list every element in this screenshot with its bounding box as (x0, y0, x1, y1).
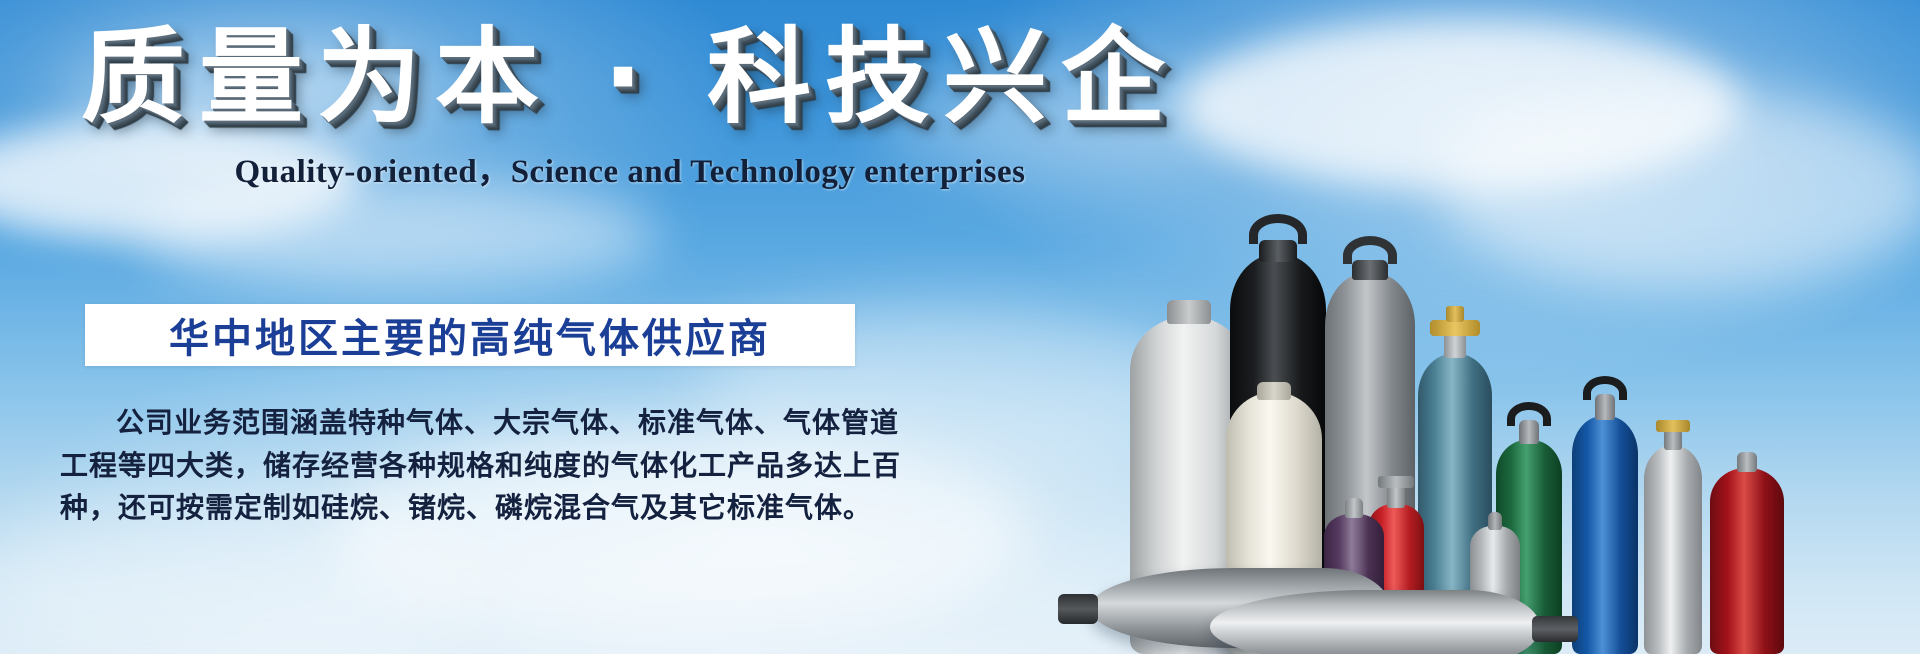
dark-red-cylinder (1710, 444, 1784, 654)
cylinder-handle-icon (1583, 376, 1627, 400)
lying-silver-cylinder-valve (1532, 616, 1578, 642)
aluminium-cylinder (1644, 404, 1702, 654)
lying-grey-cylinder-valve (1058, 594, 1098, 624)
valve-knob-icon (1656, 420, 1690, 432)
paragraph-line: 公司业务范围涵盖特种气体、大宗气体、标准气体、气体管道 (60, 403, 880, 446)
paragraph-line: 种，还可按需定制如硅烷、锗烷、磷烷混合气及其它标准气体。 (60, 488, 880, 531)
highlight-box-label: 华中地区主要的高纯气体供应商 (169, 306, 771, 364)
paragraph-line: 工程等四大类，储存经营各种规格和纯度的气体化工产品多达上百 (60, 446, 880, 489)
cylinder-handle-icon (1507, 402, 1551, 426)
cylinder-handle-icon (1343, 236, 1397, 264)
page-subtitle: Quality-oriented，Science and Technology … (0, 144, 1260, 192)
blue-cylinder (1572, 364, 1638, 654)
hero-banner: 质量为本 · 科技兴企 Quality-oriented，Science and… (0, 0, 1920, 654)
gas-cylinder-group (1150, 150, 1920, 654)
cylinder-handle-icon (1249, 214, 1307, 244)
cloud-shape (140, 180, 660, 290)
lying-silver-cylinder (1210, 590, 1540, 654)
page-title: 质量为本 · 科技兴企 (0, 16, 1260, 139)
description-paragraph: 公司业务范围涵盖特种气体、大宗气体、标准气体、气体管道 工程等四大类，储存经营各… (60, 403, 880, 531)
headline-block: 质量为本 · 科技兴企 (0, 16, 1260, 139)
highlight-box: 华中地区主要的高纯气体供应商 (85, 304, 855, 366)
valve-knob-icon (1430, 320, 1480, 336)
